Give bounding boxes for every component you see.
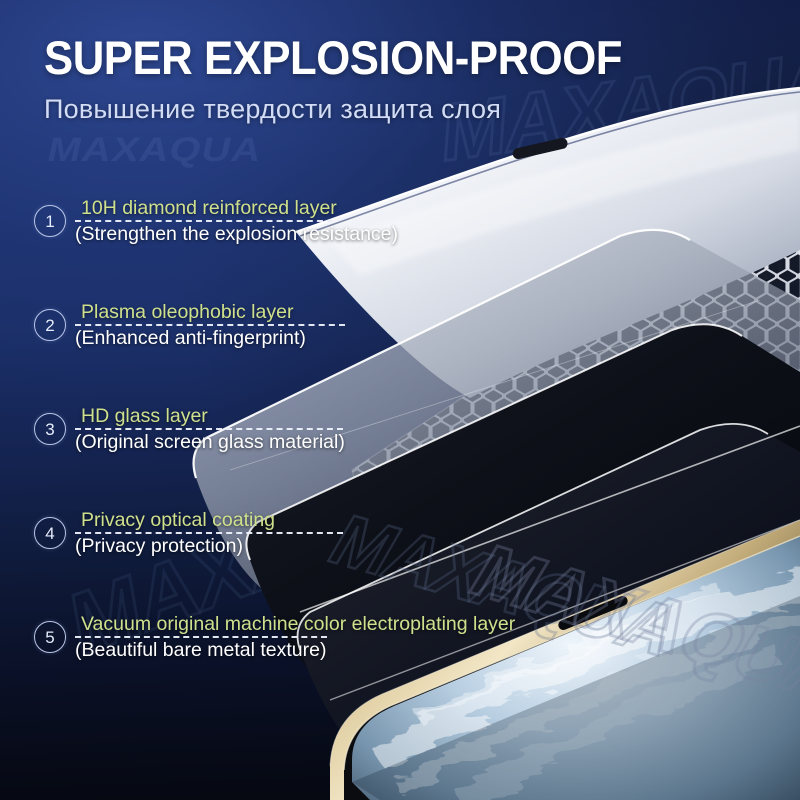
layer-detail: (Strengthen the explosion resistance): [75, 224, 554, 244]
layer-text-group: Plasma oleophobic layer (Enhanced anti-f…: [75, 302, 554, 349]
divider: [75, 428, 343, 430]
layer-number-badge: 4: [34, 517, 66, 549]
list-item: 3 HD glass layer (Original screen glass …: [34, 404, 554, 454]
list-item: 2 Plasma oleophobic layer (Enhanced anti…: [34, 300, 554, 350]
layer-text-group: 10H diamond reinforced layer (Strengthen…: [75, 198, 554, 245]
layer-list: 1 10H diamond reinforced layer (Strength…: [34, 196, 554, 662]
divider: [75, 220, 333, 222]
layer-number-badge: 3: [34, 413, 66, 445]
list-item: 5 Vacuum original machine color electrop…: [34, 612, 554, 662]
layer-number-badge: 1: [34, 205, 66, 237]
divider: [75, 324, 345, 326]
layer-number-badge: 5: [34, 621, 66, 653]
layer-detail: (Privacy protection): [75, 536, 554, 556]
layer-text-group: Vacuum original machine color electropla…: [75, 614, 554, 661]
page-title: SUPER EXPLOSION-PROOF: [44, 34, 622, 81]
layer-detail: (Original screen glass material): [75, 432, 554, 452]
layer-number-badge: 2: [34, 309, 66, 341]
page-subtitle: Повышение твердости защита слоя: [44, 94, 665, 125]
layer-label: Plasma oleophobic layer: [75, 302, 554, 322]
infographic-canvas: MAXAQUA MAXAQUA MAXAQUA MAXAQUA: [0, 0, 800, 800]
layer-label: HD glass layer: [75, 406, 554, 426]
header: SUPER EXPLOSION-PROOF Повышение твердост…: [44, 34, 665, 125]
list-item: 1 10H diamond reinforced layer (Strength…: [34, 196, 554, 246]
layer-text-group: Privacy optical coating (Privacy protect…: [75, 510, 554, 557]
layer-label: Vacuum original machine color electropla…: [75, 614, 554, 634]
layer-label: Privacy optical coating: [75, 510, 554, 530]
layer-detail: (Enhanced anti-fingerprint): [75, 328, 554, 348]
list-item: 4 Privacy optical coating (Privacy prote…: [34, 508, 554, 558]
layer-text-group: HD glass layer (Original screen glass ma…: [75, 406, 554, 453]
divider: [75, 532, 343, 534]
layer-label: 10H diamond reinforced layer: [75, 198, 554, 218]
divider: [75, 636, 327, 638]
layer-detail: (Beautiful bare metal texture): [75, 640, 554, 660]
